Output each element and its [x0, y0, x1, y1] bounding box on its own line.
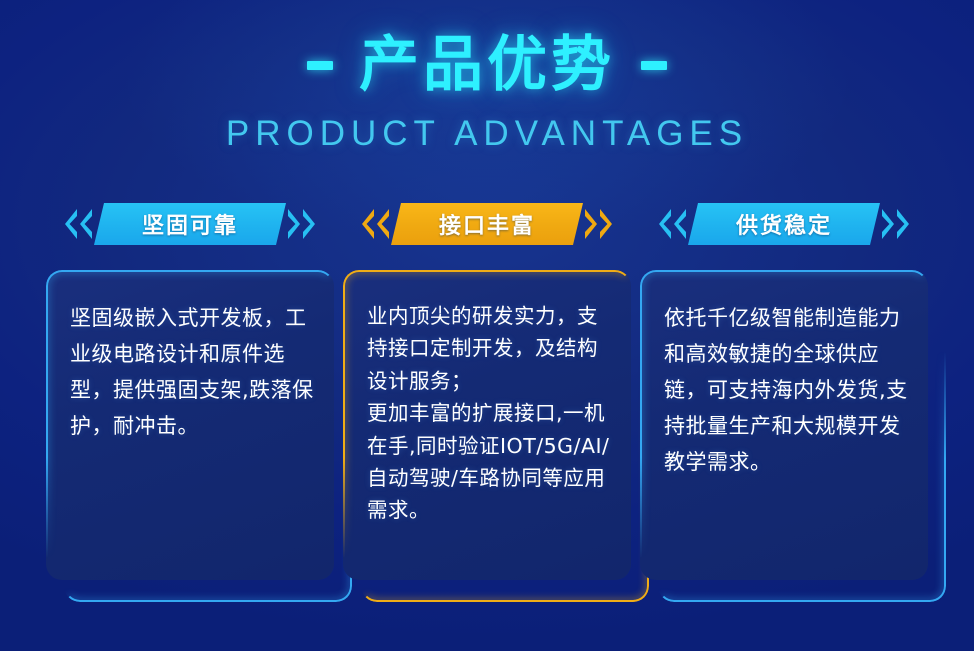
- advantage-body-text: 业内顶尖的研发实力，支持接口定制开发，及结构设计服务； 更加丰富的扩展接口,一机…: [367, 300, 611, 527]
- page-title-en: PRODUCT ADVANTAGES: [0, 116, 974, 151]
- chevron-left-icon: [65, 209, 92, 239]
- banner-interfaces: 接口丰富: [343, 196, 631, 252]
- advantage-card-interfaces: 业内顶尖的研发实力，支持接口定制开发，及结构设计服务； 更加丰富的扩展接口,一机…: [343, 270, 631, 580]
- title-dash-right: [641, 61, 667, 70]
- advantage-body-text: 依托千亿级智能制造能力和高效敏捷的全球供应链，可支持海内外发货,支持批量生产和大…: [664, 300, 908, 481]
- banner-rugged: 坚固可靠: [46, 196, 334, 252]
- advantage-column-interfaces: 接口丰富 业内顶尖的研发实力，支持接口定制开发，及结构设计服务； 更加丰富的扩展…: [343, 196, 631, 580]
- advantage-columns: 坚固可靠 坚固级嵌入式开发板，工业级电路设计和原件选型，提供强固支架,跌落保护，…: [46, 196, 928, 580]
- banner-plate: 供货稳定: [688, 203, 880, 245]
- banner-plate: 坚固可靠: [94, 203, 286, 245]
- chevron-right-icon: [288, 209, 315, 239]
- advantage-card-rugged: 坚固级嵌入式开发板，工业级电路设计和原件选型，提供强固支架,跌落保护，耐冲击。: [46, 270, 334, 580]
- advantage-card-supply: 依托千亿级智能制造能力和高效敏捷的全球供应链，可支持海内外发货,支持批量生产和大…: [640, 270, 928, 580]
- advantage-column-supply: 供货稳定 依托千亿级智能制造能力和高效敏捷的全球供应链，可支持海内外发货,支持批…: [640, 196, 928, 580]
- chevron-right-icon: [882, 209, 909, 239]
- chevron-right-icon: [585, 209, 612, 239]
- title-dash-left: [307, 61, 333, 70]
- banner-supply: 供货稳定: [640, 196, 928, 252]
- title-row: 产品优势: [0, 26, 974, 104]
- product-advantages-page: 产品优势 PRODUCT ADVANTAGES 坚固可靠 坚固级嵌入式开发板，工…: [0, 0, 974, 651]
- banner-label: 坚固可靠: [142, 208, 238, 240]
- banner-label: 接口丰富: [439, 208, 535, 240]
- chevron-left-icon: [659, 209, 686, 239]
- chevron-left-icon: [362, 209, 389, 239]
- advantage-body-text: 坚固级嵌入式开发板，工业级电路设计和原件选型，提供强固支架,跌落保护，耐冲击。: [70, 300, 314, 444]
- page-header: 产品优势 PRODUCT ADVANTAGES: [0, 26, 974, 151]
- banner-label: 供货稳定: [736, 208, 832, 240]
- advantage-column-rugged: 坚固可靠 坚固级嵌入式开发板，工业级电路设计和原件选型，提供强固支架,跌落保护，…: [46, 196, 334, 580]
- banner-plate: 接口丰富: [391, 203, 583, 245]
- page-title-cn: 产品优势: [359, 35, 615, 95]
